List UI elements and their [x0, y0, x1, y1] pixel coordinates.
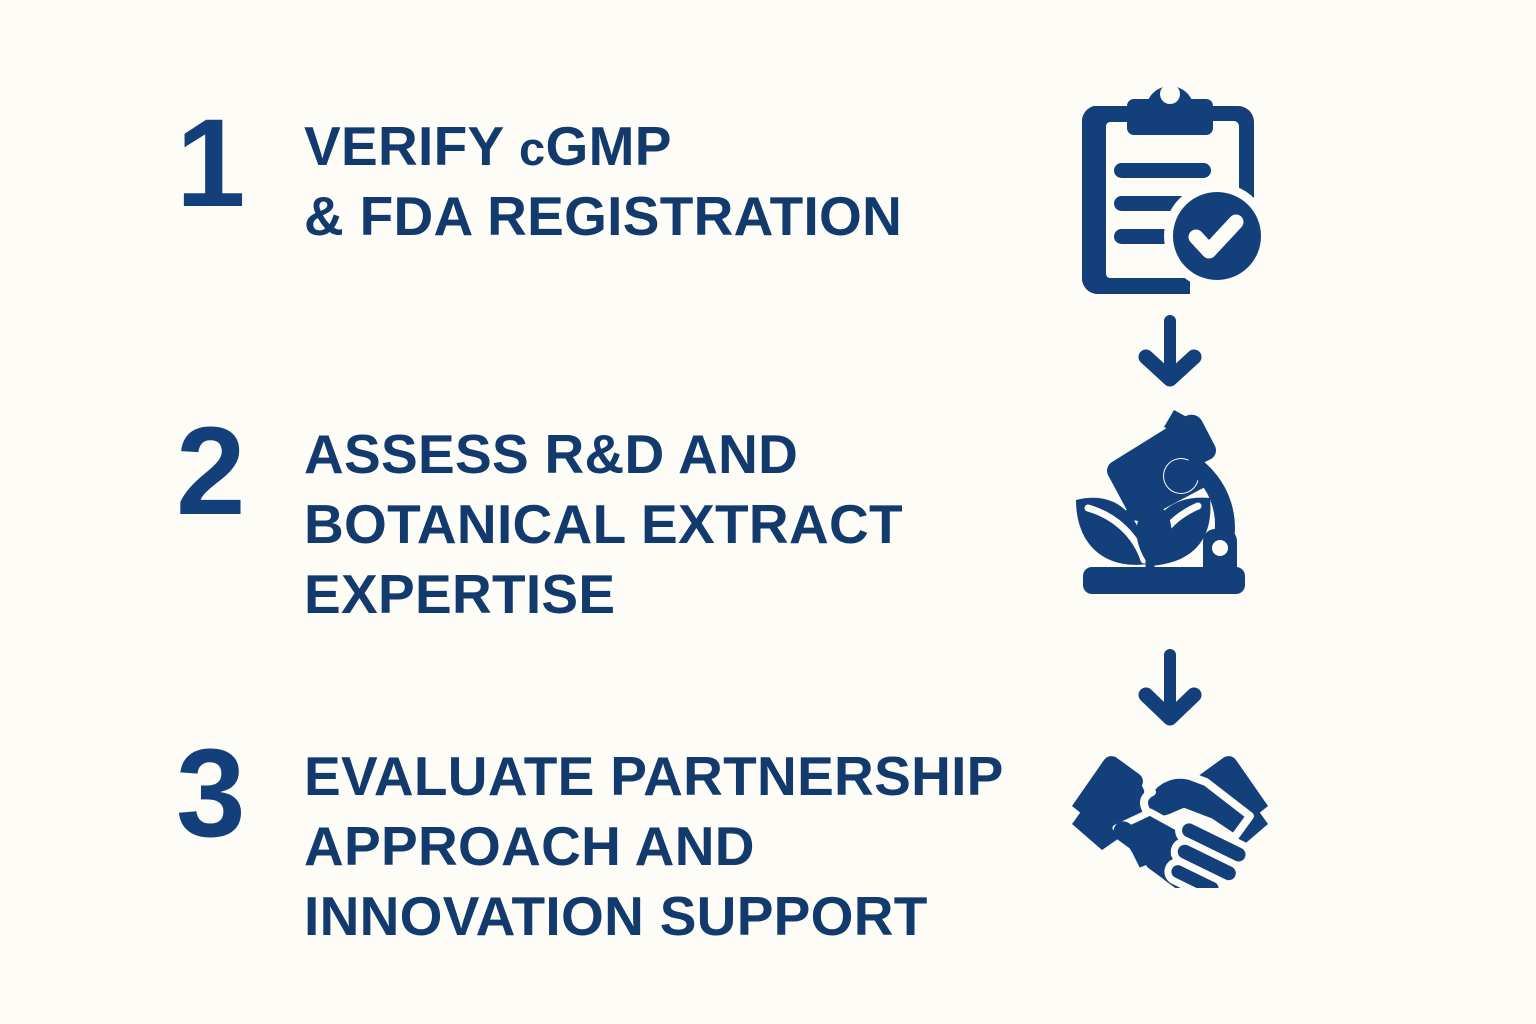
arrow-down-icon-2	[1020, 648, 1320, 728]
steps-column: 1 VERIFY cGMP & FDA REGISTRATION 2 ASSES…	[0, 0, 1010, 1024]
step-2-line-2: BOTANICAL EXTRACT	[304, 490, 903, 560]
step-2-line-1: ASSESS R&D AND	[304, 420, 903, 490]
step-item-2: 2 ASSESS R&D AND BOTANICAL EXTRACT EXPER…	[176, 420, 903, 630]
step-text-1: VERIFY cGMP & FDA REGISTRATION	[304, 112, 902, 252]
step-number-3: 3	[176, 736, 304, 851]
arrow-down-icon-1	[1020, 312, 1320, 390]
microscope-plant-icon	[1020, 404, 1320, 619]
step-number-1: 1	[176, 106, 304, 221]
step-text-3: EVALUATE PARTNERSHIP APPROACH AND INNOVA…	[304, 742, 1004, 952]
handshake-icon	[1020, 748, 1320, 888]
step-2-line-3: EXPERTISE	[304, 560, 903, 630]
step-3-line-3: INNOVATION SUPPORT	[304, 882, 1004, 952]
step-text-2: ASSESS R&D AND BOTANICAL EXTRACT EXPERTI…	[304, 420, 903, 630]
icon-flow-column	[1020, 0, 1320, 1024]
step-item-3: 3 EVALUATE PARTNERSHIP APPROACH AND INNO…	[176, 742, 1004, 952]
step-number-2: 2	[176, 414, 304, 529]
step-1-line-1: VERIFY cGMP	[304, 112, 902, 182]
clipboard-check-icon	[1020, 70, 1320, 295]
step-3-line-1: EVALUATE PARTNERSHIP	[304, 742, 1004, 812]
step-item-1: 1 VERIFY cGMP & FDA REGISTRATION	[176, 112, 902, 252]
step-3-line-2: APPROACH AND	[304, 812, 1004, 882]
step-1-line-2: & FDA REGISTRATION	[304, 182, 902, 252]
infographic-canvas: 1 VERIFY cGMP & FDA REGISTRATION 2 ASSES…	[0, 0, 1536, 1024]
cgmp-lowercase-c: c	[519, 122, 545, 175]
